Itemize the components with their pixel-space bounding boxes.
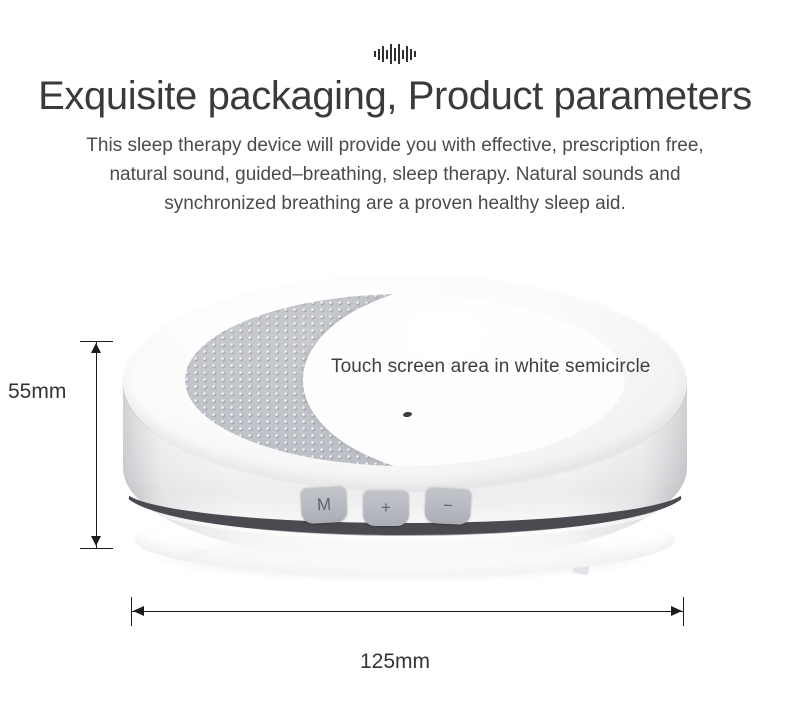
height-dimension-label: 55mm [8,380,66,404]
wave-bar-11 [414,51,416,57]
wave-bar-6 [394,48,396,61]
wave-bar-9 [406,46,408,62]
width-dimension-line [131,611,683,612]
wave-bar-1 [374,51,376,57]
device-button-row: M + − [301,482,481,526]
height-arrow-down-icon [91,536,101,546]
subtitle-line-2: natural sound, guided–breathing, sleep t… [35,161,755,190]
subtitle-line-1: This sleep therapy device will provide y… [35,132,755,161]
subtitle-line-3: synchronized breathing are a proven heal… [35,190,755,219]
width-arrow-left-icon [133,606,144,616]
volume-up-button[interactable]: + [363,489,409,526]
wave-bar-5 [390,44,392,64]
sound-wave-icon [0,42,790,66]
page-title: Exquisite packaging, Product parameters [0,74,790,118]
wave-bar-10 [410,49,412,60]
wave-bar-7 [398,44,400,64]
wave-bar-3 [382,46,384,62]
width-dimension-cap-left [131,597,132,626]
wave-bar-4 [386,50,388,59]
touch-area-label: Touch screen area in white semicircle [331,356,650,378]
height-dimension-cap-top [80,341,113,342]
wave-bar-2 [378,49,380,60]
width-arrow-right-icon [671,606,682,616]
width-dimension-cap-right [683,597,684,626]
mode-button-label: M [316,496,331,514]
width-dimension-label: 125mm [0,650,790,674]
device-top-face [123,274,687,490]
height-dimension-cap-bottom [80,548,113,549]
volume-up-button-label: + [381,499,391,516]
mode-button[interactable]: M [300,485,348,524]
touch-screen-area[interactable] [303,294,625,466]
page-subtitle: This sleep therapy device will provide y… [35,132,755,219]
height-dimension-line [96,341,97,548]
height-arrow-up-icon [91,343,101,353]
device-top-inset [185,294,625,466]
wave-bar-8 [402,50,404,59]
product-illustration: Touch screen area in white semicircle M … [105,268,705,598]
volume-down-button[interactable]: − [424,486,472,525]
volume-down-button-label: − [443,497,454,514]
